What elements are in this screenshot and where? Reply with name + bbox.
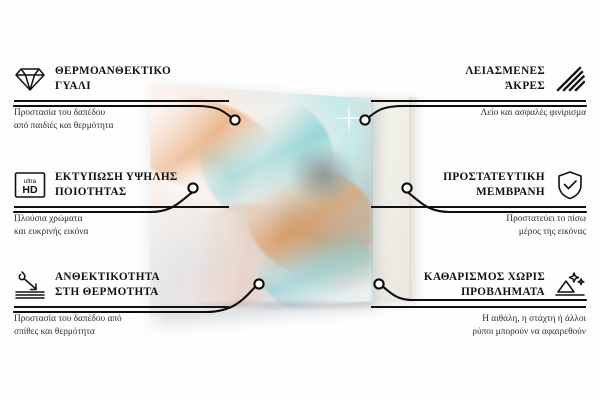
feature-desc-line1: Προστασία του δαπέδου: [14, 107, 229, 120]
feature-heat-resistant-glass: ΘΕΡΜΟΑΝΘΕΚΤΙΚΟ ΓΥΑΛΙ Προστασία του δαπέδ…: [14, 62, 229, 133]
feature-desc-line2: μέρος της εικόνας: [371, 226, 586, 239]
feature-title-line1: ΑΝΘΕΚΤΙΚΟΤΗΤΑ: [55, 270, 160, 285]
feature-title-line2: ΠΟΙΟΤΗΤΑΣ: [55, 185, 178, 200]
feature-desc-line1: Η αιθάλη, η στάχτη ή άλλοι: [371, 313, 586, 326]
feature-protective-membrane: ΠΡΟΣΤΑΤΕΥΤΙΚΗ ΜΕΜΒΡΑΝΗ Προστατεύει το πί…: [371, 168, 586, 239]
sparkle-clean-icon: [554, 270, 586, 300]
feature-desc-line1: Προστασία του δαπέδου από: [14, 313, 229, 326]
shield-check-icon: [554, 170, 586, 200]
feature-title-line2: ΣΤΗ ΘΕΡΜΟΤΗΤΑ: [55, 285, 160, 300]
feature-title-line2: ΆΚΡΕΣ: [465, 79, 545, 94]
diagonal-stripes-icon: [554, 64, 586, 94]
feature-title-line1: ΛΕΙΑΣΜΕΝΕΣ: [465, 64, 545, 79]
feature-title-line2: ΓΥΑΛΙ: [55, 79, 171, 94]
feature-rule: [14, 306, 229, 308]
feature-title-line1: ΕΚΤΥΠΩΣΗ ΥΨΗΛΗΣ: [55, 170, 178, 185]
diamond-icon: [14, 64, 46, 94]
feature-title-line1: ΚΑΘΑΡΙΣΜΟΣ ΧΩΡΙΣ: [424, 270, 545, 285]
feature-title-line2: ΠΡΟΒΛΗΜΑΤΑ: [424, 285, 545, 300]
feature-rule: [371, 206, 586, 208]
feature-rule: [14, 100, 229, 102]
feature-title-line1: ΘΕΡΜΟΑΝΘΕΚΤΙΚΟ: [55, 64, 171, 79]
feature-rule: [371, 306, 586, 308]
feature-rule: [14, 206, 229, 208]
infographic-stage: ΘΕΡΜΟΑΝΘΕΚΤΙΚΟ ΓΥΑΛΙ Προστασία του δαπέδ…: [0, 0, 600, 400]
feature-desc-line1: Πλούσια χρώματα: [14, 213, 229, 226]
feature-desc-line2: από παιδιές και θερμότητα: [14, 120, 229, 133]
feature-desc-line2: και ευκρινής εικόνα: [14, 226, 229, 239]
feature-title-line2: ΜΕΜΒΡΑΝΗ: [443, 185, 545, 200]
feature-rule: [371, 100, 586, 102]
feature-desc-line1: Προστατεύει το πίσω: [371, 213, 586, 226]
feature-easy-cleaning: ΚΑΘΑΡΙΣΜΟΣ ΧΩΡΙΣ ΠΡΟΒΛΗΜΑΤΑ Η αιθάλη, η …: [371, 268, 586, 339]
feature-heat-durability: ΑΝΘΕΚΤΙΚΟΤΗΤΑ ΣΤΗ ΘΕΡΜΟΤΗΤΑ Προστασία το…: [14, 268, 229, 339]
feature-desc-line1: Λείο και ασφαλές φινίρισμα: [371, 107, 586, 120]
feature-desc-line2: ρύποι μπορούν να αφαιρεθούν: [371, 326, 586, 339]
feature-desc-line2: σπίθες και θερμότητα: [14, 326, 229, 339]
feature-title-line1: ΠΡΟΣΤΑΤΕΥΤΙΚΗ: [443, 170, 545, 185]
ultra-hd-icon-bottom: HD: [22, 184, 38, 196]
feature-polished-edges: ΛΕΙΑΣΜΕΝΕΣ ΆΚΡΕΣ Λείο και ασφαλές φινίρι…: [371, 62, 586, 120]
feature-high-quality-print: ultra HD ΕΚΤΥΠΩΣΗ ΥΨΗΛΗΣ ΠΟΙΟΤΗΤΑΣ Πλούσ…: [14, 168, 229, 239]
flame-surface-icon: [14, 270, 46, 300]
ultra-hd-icon: ultra HD: [14, 170, 46, 200]
